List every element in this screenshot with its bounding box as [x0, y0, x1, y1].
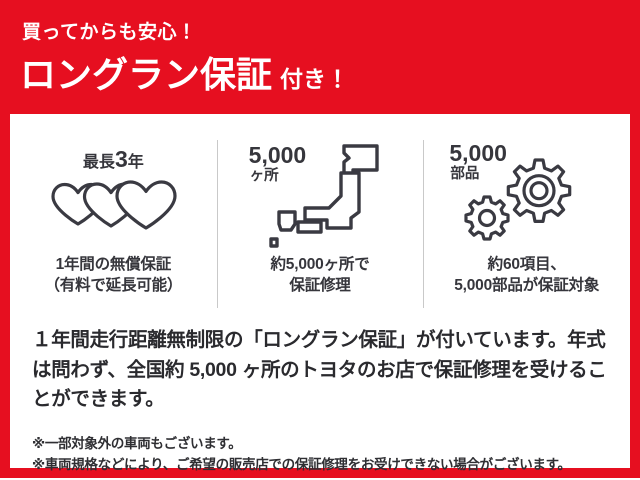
content-frame: 最長3年 1年間の無償保証 （有料で延 — [0, 104, 640, 478]
badge-number-text: 3 — [115, 146, 128, 172]
body-paragraph: １年間走行距離無制限の「ロングラン保証」が付いています。年式は問わず、全国約 5… — [32, 326, 610, 415]
badge-suffix-text: 年 — [128, 154, 144, 171]
header-title: ロングラン保証 付き！ — [20, 57, 349, 93]
header-kicker-text: 買ってからも安心！ — [22, 23, 197, 42]
header-title-sub-text: 付き！ — [280, 68, 349, 91]
badge-prefix-text: 最長 — [83, 154, 115, 171]
feature-column-warranty-period: 最長3年 1年間の無償保証 （有料で延 — [10, 136, 217, 316]
content-area: 最長3年 1年間の無償保証 （有料で延 — [10, 114, 630, 468]
feature-caption-warranty-period: 1年間の無償保証 （有料で延長可能） — [44, 254, 182, 297]
header-title-main-text: ロングラン保証 — [20, 57, 272, 93]
feature-visual-hearts: 最長3年 — [10, 136, 217, 254]
disclaimer-note-2: ※車両規格などにより、ご希望の販売店での保証修理をお受けできない場合がございます… — [32, 455, 622, 476]
gears-icon — [457, 150, 583, 257]
feature-column-locations: 5,000 ヶ所 — [217, 136, 424, 316]
japan-map-icon — [265, 140, 385, 257]
disclaimer-notes: ※一部対象外の車両もございます。 ※車両規格などにより、ご希望の販売店での保証修… — [32, 434, 622, 475]
longrun-warranty-banner: 買ってからも安心！ ロングラン保証 付き！ 最長3年 — [0, 0, 640, 480]
warranty-period-badge: 最長3年 — [10, 148, 217, 171]
feature-column-parts: 5,000 部品 — [423, 136, 630, 316]
feature-caption-parts: 約60項目、 5,000部品が保証対象 — [454, 254, 599, 297]
three-hearts-icon — [10, 176, 217, 230]
disclaimer-note-1: ※一部対象外の車両もございます。 — [32, 434, 622, 455]
feature-columns: 最長3年 1年間の無償保証 （有料で延 — [10, 136, 630, 316]
banner-header: 買ってからも安心！ ロングラン保証 付き！ — [0, 0, 640, 114]
feature-caption-locations: 約5,000ヶ所で 保証修理 — [271, 254, 370, 297]
feature-visual-map: 5,000 ヶ所 — [217, 136, 424, 254]
feature-visual-gears: 5,000 部品 — [423, 136, 630, 254]
